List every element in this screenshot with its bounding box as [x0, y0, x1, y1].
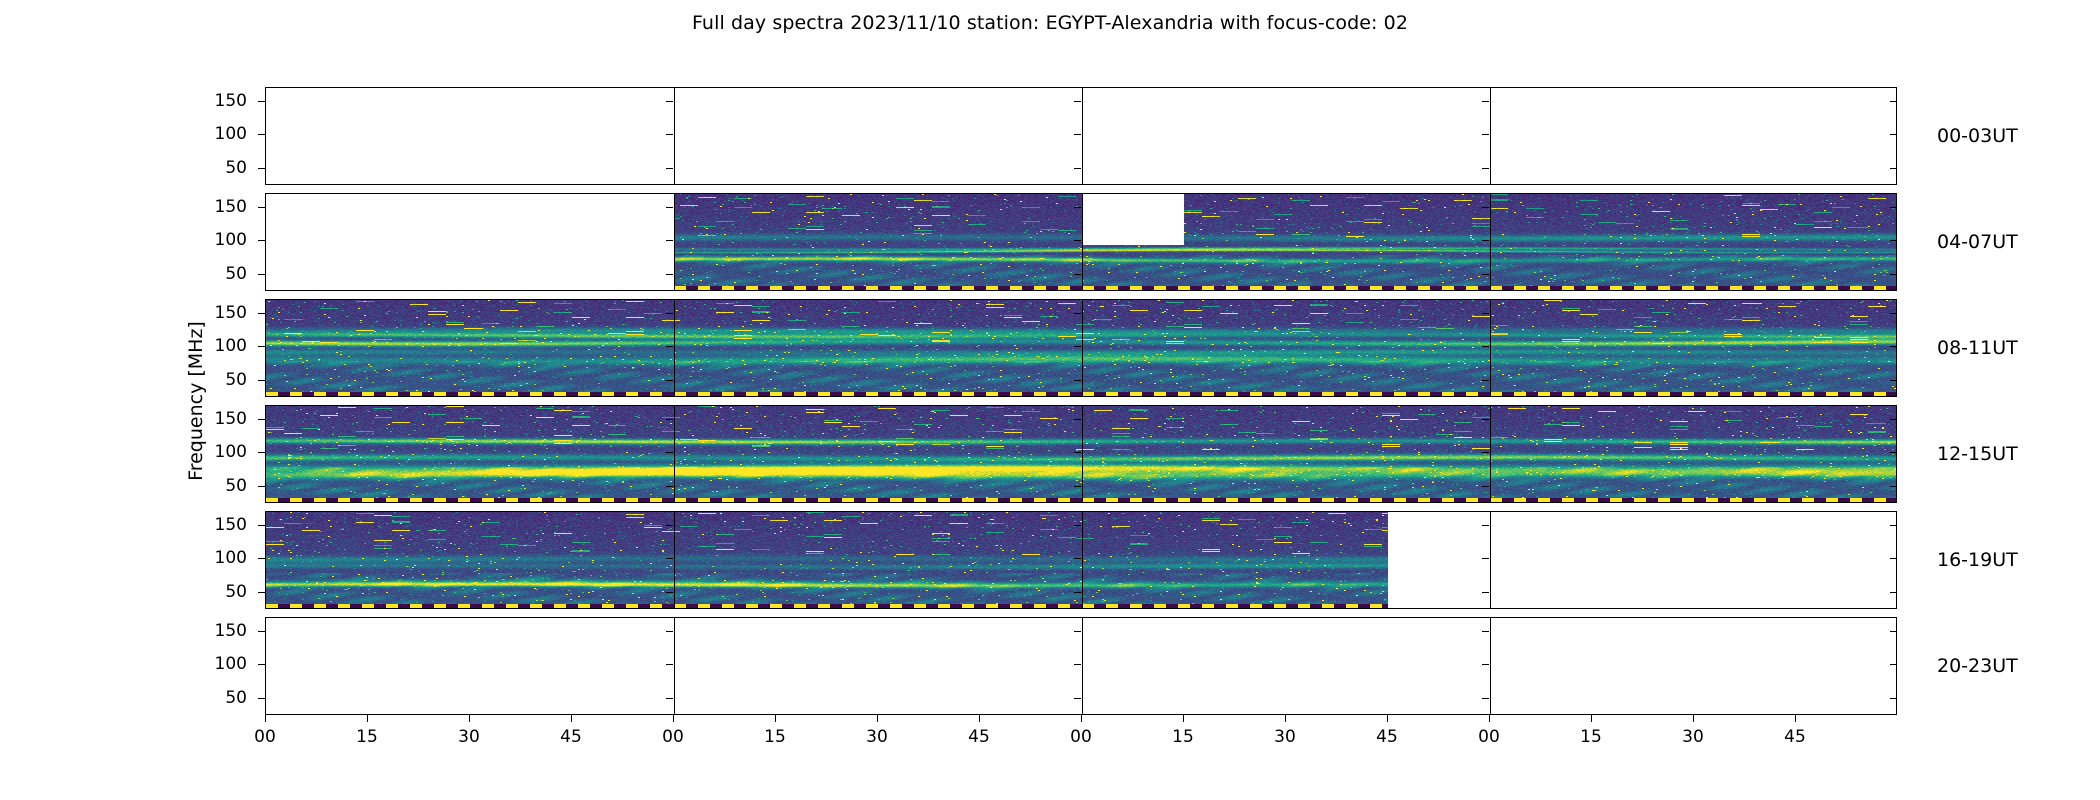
y-tick-inner	[1482, 274, 1489, 275]
y-tick-inner	[1074, 452, 1081, 453]
x-tick-label: 00	[1070, 727, 1092, 747]
spectrogram-row-08-11ut[interactable]	[265, 299, 1897, 397]
y-tick	[258, 240, 265, 241]
row-label-16-19ut: 16-19UT	[1937, 549, 2018, 571]
y-tick-inner	[1890, 240, 1897, 241]
y-tick-inner	[1074, 558, 1081, 559]
hour-separator	[674, 88, 675, 184]
x-tick-label: 00	[254, 727, 276, 747]
y-tick-inner	[1482, 486, 1489, 487]
y-tick-inner	[1890, 698, 1897, 699]
y-tick-inner	[1890, 419, 1897, 420]
y-tick-inner	[1482, 346, 1489, 347]
y-tick-inner	[1890, 274, 1897, 275]
y-tick-label: 50	[185, 370, 247, 390]
y-tick-inner	[1482, 419, 1489, 420]
y-tick-inner	[1890, 313, 1897, 314]
y-tick	[258, 313, 265, 314]
x-tick	[367, 715, 368, 722]
x-tick-label: 30	[458, 727, 480, 747]
x-tick	[1183, 715, 1184, 722]
y-tick-label: 150	[185, 197, 247, 217]
y-tick-inner	[1482, 631, 1489, 632]
y-tick	[258, 101, 265, 102]
y-tick-inner	[1890, 346, 1897, 347]
y-tick-inner	[1890, 134, 1897, 135]
y-tick	[258, 558, 265, 559]
y-tick-label: 50	[185, 688, 247, 708]
hour-separator	[1490, 406, 1491, 502]
y-tick-inner	[1074, 525, 1081, 526]
y-tick-inner	[1890, 525, 1897, 526]
y-tick-label: 50	[185, 158, 247, 178]
y-tick-inner	[1482, 592, 1489, 593]
y-tick	[258, 419, 265, 420]
y-tick-label: 150	[185, 515, 247, 535]
y-tick-inner	[1890, 207, 1897, 208]
y-tick-inner	[1890, 664, 1897, 665]
x-tick	[1081, 715, 1082, 722]
x-tick-label: 00	[662, 727, 684, 747]
y-tick-inner	[1890, 380, 1897, 381]
y-tick-inner	[666, 168, 673, 169]
x-tick	[775, 715, 776, 722]
y-tick-inner	[666, 631, 673, 632]
y-tick-inner	[1482, 240, 1489, 241]
x-tick	[1489, 715, 1490, 722]
y-tick-inner	[1482, 101, 1489, 102]
y-tick-inner	[1074, 664, 1081, 665]
x-tick	[1285, 715, 1286, 722]
y-tick	[258, 486, 265, 487]
x-tick-label: 00	[1478, 727, 1500, 747]
y-tick-label: 150	[185, 91, 247, 111]
y-tick-label: 100	[185, 654, 247, 674]
y-tick-label: 100	[185, 336, 247, 356]
y-tick	[258, 592, 265, 593]
y-tick-inner	[1890, 101, 1897, 102]
spectrogram-row-00-03ut[interactable]	[265, 87, 1897, 185]
x-tick	[469, 715, 470, 722]
hour-separator	[1490, 88, 1491, 184]
x-tick-label: 30	[1274, 727, 1296, 747]
y-tick-inner	[1482, 313, 1489, 314]
y-tick-inner	[1890, 558, 1897, 559]
hour-separator	[1490, 512, 1491, 608]
y-tick-label: 150	[185, 409, 247, 429]
y-tick-inner	[666, 207, 673, 208]
y-tick-inner	[1482, 525, 1489, 526]
y-tick-inner	[666, 525, 673, 526]
y-tick-inner	[1074, 168, 1081, 169]
y-tick-inner	[1482, 168, 1489, 169]
y-tick-inner	[1074, 631, 1081, 632]
y-tick-inner	[1890, 486, 1897, 487]
y-tick-inner	[666, 698, 673, 699]
y-tick-inner	[666, 664, 673, 665]
row-label-20-23ut: 20-23UT	[1937, 655, 2018, 677]
y-tick-inner	[666, 380, 673, 381]
x-tick-label: 45	[560, 727, 582, 747]
y-tick-inner	[1482, 134, 1489, 135]
y-tick-inner	[666, 558, 673, 559]
y-tick-inner	[1482, 380, 1489, 381]
y-tick-inner	[1074, 207, 1081, 208]
x-tick	[1795, 715, 1796, 722]
x-tick	[877, 715, 878, 722]
y-tick-inner	[1482, 207, 1489, 208]
x-tick-label: 45	[968, 727, 990, 747]
spectrogram-row-04-07ut[interactable]	[265, 193, 1897, 291]
x-tick-label: 30	[866, 727, 888, 747]
y-tick-label: 100	[185, 124, 247, 144]
x-tick	[1387, 715, 1388, 722]
x-tick-label: 15	[1580, 727, 1602, 747]
row-label-08-11ut: 08-11UT	[1937, 337, 2018, 359]
y-tick-label: 100	[185, 230, 247, 250]
spectrogram-figure: Full day spectra 2023/11/10 station: EGY…	[0, 0, 2100, 800]
y-tick	[258, 168, 265, 169]
y-tick-inner	[666, 240, 673, 241]
row-label-04-07ut: 04-07UT	[1937, 231, 2018, 253]
y-tick	[258, 207, 265, 208]
x-tick	[673, 715, 674, 722]
x-tick-label: 45	[1376, 727, 1398, 747]
y-tick-inner	[1074, 134, 1081, 135]
y-tick-inner	[1482, 452, 1489, 453]
spectrogram-row-12-15ut[interactable]	[265, 405, 1897, 503]
hour-separator	[674, 618, 675, 714]
x-tick	[1591, 715, 1592, 722]
y-tick-label: 150	[185, 621, 247, 641]
y-tick-inner	[666, 274, 673, 275]
x-tick-label: 15	[764, 727, 786, 747]
y-tick-inner	[1074, 346, 1081, 347]
spectrogram-row-20-23ut[interactable]	[265, 617, 1897, 715]
y-tick-inner	[1890, 452, 1897, 453]
x-tick	[979, 715, 980, 722]
y-tick-inner	[666, 486, 673, 487]
y-tick-label: 50	[185, 264, 247, 284]
hour-separator	[1082, 194, 1083, 290]
y-tick-inner	[666, 592, 673, 593]
x-tick-label: 15	[1172, 727, 1194, 747]
y-tick	[258, 346, 265, 347]
y-tick-inner	[1074, 698, 1081, 699]
y-tick	[258, 274, 265, 275]
y-tick-label: 100	[185, 548, 247, 568]
y-tick	[258, 664, 265, 665]
y-tick-label: 50	[185, 476, 247, 496]
y-tick-inner	[1074, 419, 1081, 420]
y-tick-label: 150	[185, 303, 247, 323]
hour-separator	[674, 406, 675, 502]
y-tick-inner	[1074, 313, 1081, 314]
y-tick-inner	[666, 346, 673, 347]
y-tick-inner	[1482, 698, 1489, 699]
y-tick-inner	[1074, 274, 1081, 275]
y-tick	[258, 631, 265, 632]
y-tick	[258, 452, 265, 453]
hour-separator	[674, 300, 675, 396]
y-tick-inner	[666, 419, 673, 420]
x-tick	[1693, 715, 1694, 722]
y-tick-inner	[666, 101, 673, 102]
y-tick-inner	[1890, 592, 1897, 593]
y-tick	[258, 380, 265, 381]
y-tick-label: 50	[185, 582, 247, 602]
y-tick-inner	[666, 313, 673, 314]
y-tick-inner	[1074, 592, 1081, 593]
hour-separator	[1082, 618, 1083, 714]
y-tick-inner	[1074, 380, 1081, 381]
hour-separator	[1490, 618, 1491, 714]
hour-separator	[674, 512, 675, 608]
y-tick	[258, 525, 265, 526]
hour-separator	[1082, 300, 1083, 396]
x-tick-label: 30	[1682, 727, 1704, 747]
y-tick-inner	[1482, 558, 1489, 559]
y-tick-inner	[1074, 240, 1081, 241]
y-tick-inner	[666, 134, 673, 135]
x-tick	[571, 715, 572, 722]
hour-separator	[1082, 512, 1083, 608]
x-tick-label: 15	[356, 727, 378, 747]
hour-separator	[1082, 406, 1083, 502]
hour-separator	[674, 194, 675, 290]
y-tick-inner	[1074, 486, 1081, 487]
x-tick-label: 45	[1784, 727, 1806, 747]
hour-separator	[1490, 300, 1491, 396]
y-tick-label: 100	[185, 442, 247, 462]
hour-separator	[1490, 194, 1491, 290]
page-title: Full day spectra 2023/11/10 station: EGY…	[0, 12, 2100, 34]
y-tick-inner	[666, 452, 673, 453]
y-tick-inner	[1074, 101, 1081, 102]
y-tick-inner	[1890, 168, 1897, 169]
y-tick	[258, 134, 265, 135]
spectrogram-row-16-19ut[interactable]	[265, 511, 1897, 609]
row-label-12-15ut: 12-15UT	[1937, 443, 2018, 465]
y-tick-inner	[1890, 631, 1897, 632]
y-tick-inner	[1482, 664, 1489, 665]
x-tick	[265, 715, 266, 722]
y-tick	[258, 698, 265, 699]
row-label-00-03ut: 00-03UT	[1937, 125, 2018, 147]
hour-separator	[1082, 88, 1083, 184]
